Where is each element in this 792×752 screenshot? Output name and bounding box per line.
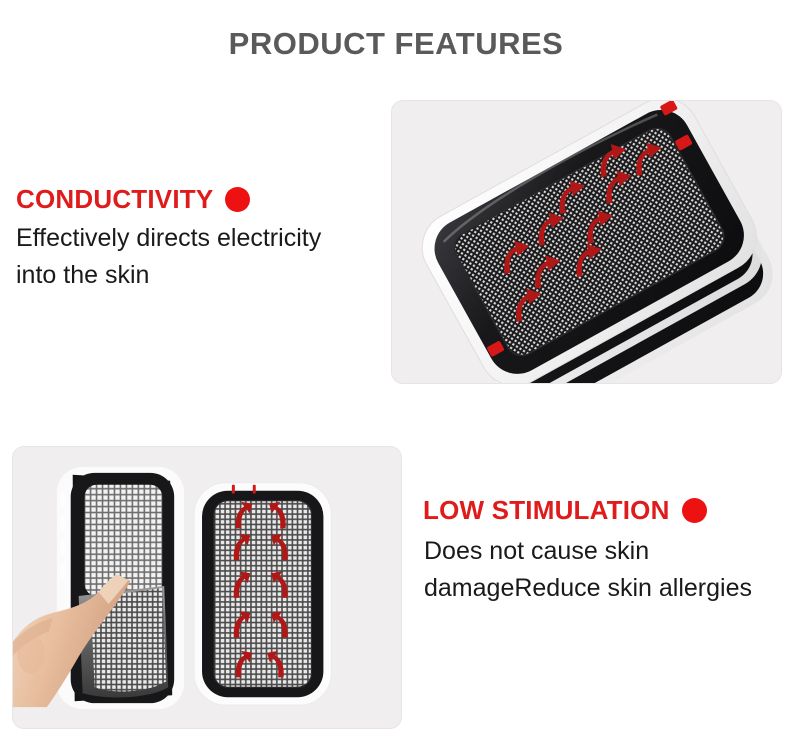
feature-block-low-stimulation: LOW STIMULATION Does not cause skin dama… xyxy=(423,497,764,606)
feature-heading-low-stimulation: LOW STIMULATION xyxy=(423,497,764,524)
stacked-electrode-pads-photo xyxy=(391,100,782,384)
feature-body-low-stimulation: Does not cause skin damageReduce skin al… xyxy=(424,533,764,606)
electrode-pads-finger-illustration xyxy=(13,447,401,728)
feature-body-conductivity: Effectively directs electricity into the… xyxy=(16,220,346,293)
page-title: PRODUCT FEATURES xyxy=(0,26,792,62)
feature-heading-label: CONDUCTIVITY xyxy=(16,186,213,213)
feature-heading-label: LOW STIMULATION xyxy=(423,497,670,524)
red-dot-icon xyxy=(682,498,707,523)
stacked-electrode-pads-illustration xyxy=(392,101,781,383)
red-dot-icon xyxy=(225,187,250,212)
electrode-pads-finger-photo xyxy=(12,446,402,729)
feature-block-conductivity: CONDUCTIVITY Effectively directs electri… xyxy=(16,186,346,293)
feature-heading-conductivity: CONDUCTIVITY xyxy=(16,186,346,213)
